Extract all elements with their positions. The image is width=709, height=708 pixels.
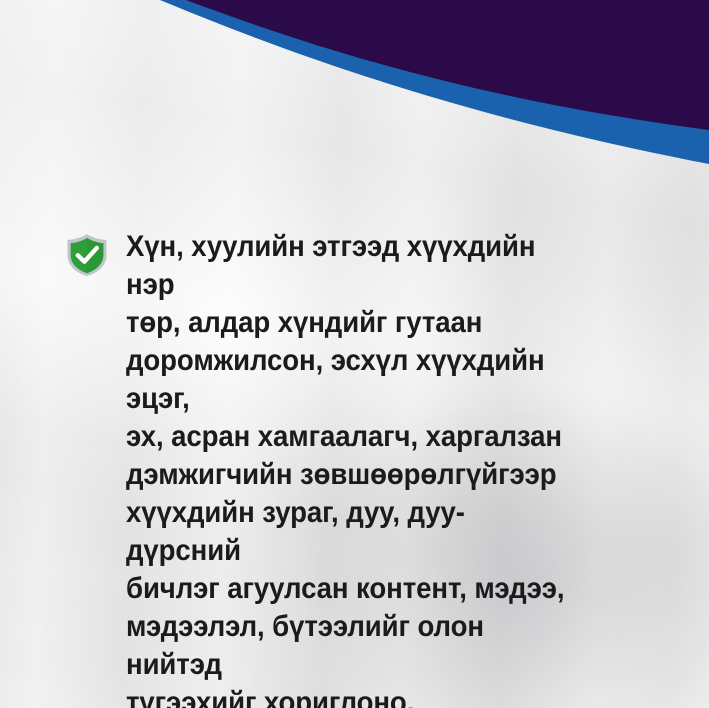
slide-canvas: Хүн, хуулийн этгээд хүүхдийн нэр төр, ал… — [0, 0, 709, 708]
notice-paragraph: Хүн, хуулийн этгээд хүүхдийн нэр төр, ал… — [126, 228, 573, 708]
header-curve-banner — [0, 0, 709, 220]
shield-check-icon — [64, 232, 110, 278]
header-purple-shape — [186, 0, 709, 130]
notice-block: Хүн, хуулийн этгээд хүүхдийн нэр төр, ал… — [64, 228, 604, 708]
